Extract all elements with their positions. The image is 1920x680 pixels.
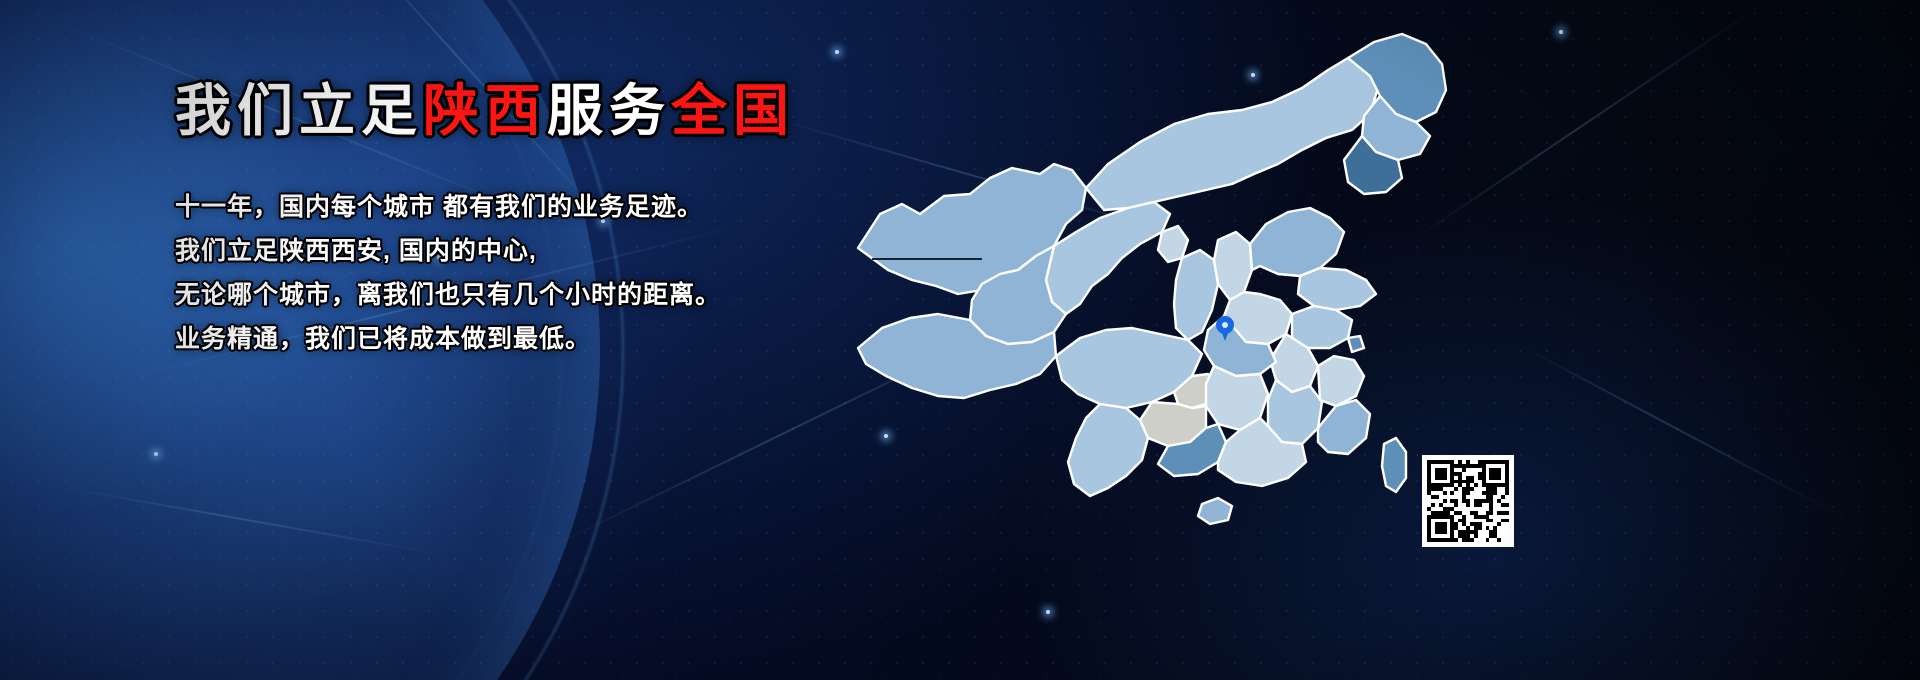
description-line-2: 我们立足陕西西安, 国内的中心, xyxy=(175,229,935,273)
banner-description: 十一年，国内每个城市 都有我们的业务足迹。 我们立足陕西西安, 国内的中心, 无… xyxy=(175,185,935,361)
qr-code[interactable] xyxy=(1422,455,1514,547)
banner-copy: 我们立足陕西服务全国 十一年，国内每个城市 都有我们的业务足迹。 我们立足陕西西… xyxy=(175,82,935,361)
qr-code-grid xyxy=(1427,460,1509,542)
description-line-4: 业务精通，我们已将成本做到最低。 xyxy=(175,317,935,361)
page-title: 我们立足陕西服务全国 xyxy=(175,82,935,141)
headline-segment-2-highlight: 陕西 xyxy=(423,79,547,142)
description-line-1: 十一年，国内每个城市 都有我们的业务足迹。 xyxy=(175,185,935,229)
map-pin-dot xyxy=(1222,322,1228,328)
map-pin-tail xyxy=(1220,328,1230,341)
hero-banner: 我们立足陕西服务全国 十一年，国内每个城市 都有我们的业务足迹。 我们立足陕西西… xyxy=(0,0,1920,680)
headline-segment-4-highlight: 全国 xyxy=(671,79,795,142)
headline-segment-3: 服务 xyxy=(547,79,671,142)
map-marker-xian xyxy=(1216,316,1234,342)
description-line-3: 无论哪个城市，离我们也只有几个小时的距离。 xyxy=(175,273,935,317)
divider-rule xyxy=(872,258,982,260)
headline-segment-1: 我们立足 xyxy=(175,79,423,142)
